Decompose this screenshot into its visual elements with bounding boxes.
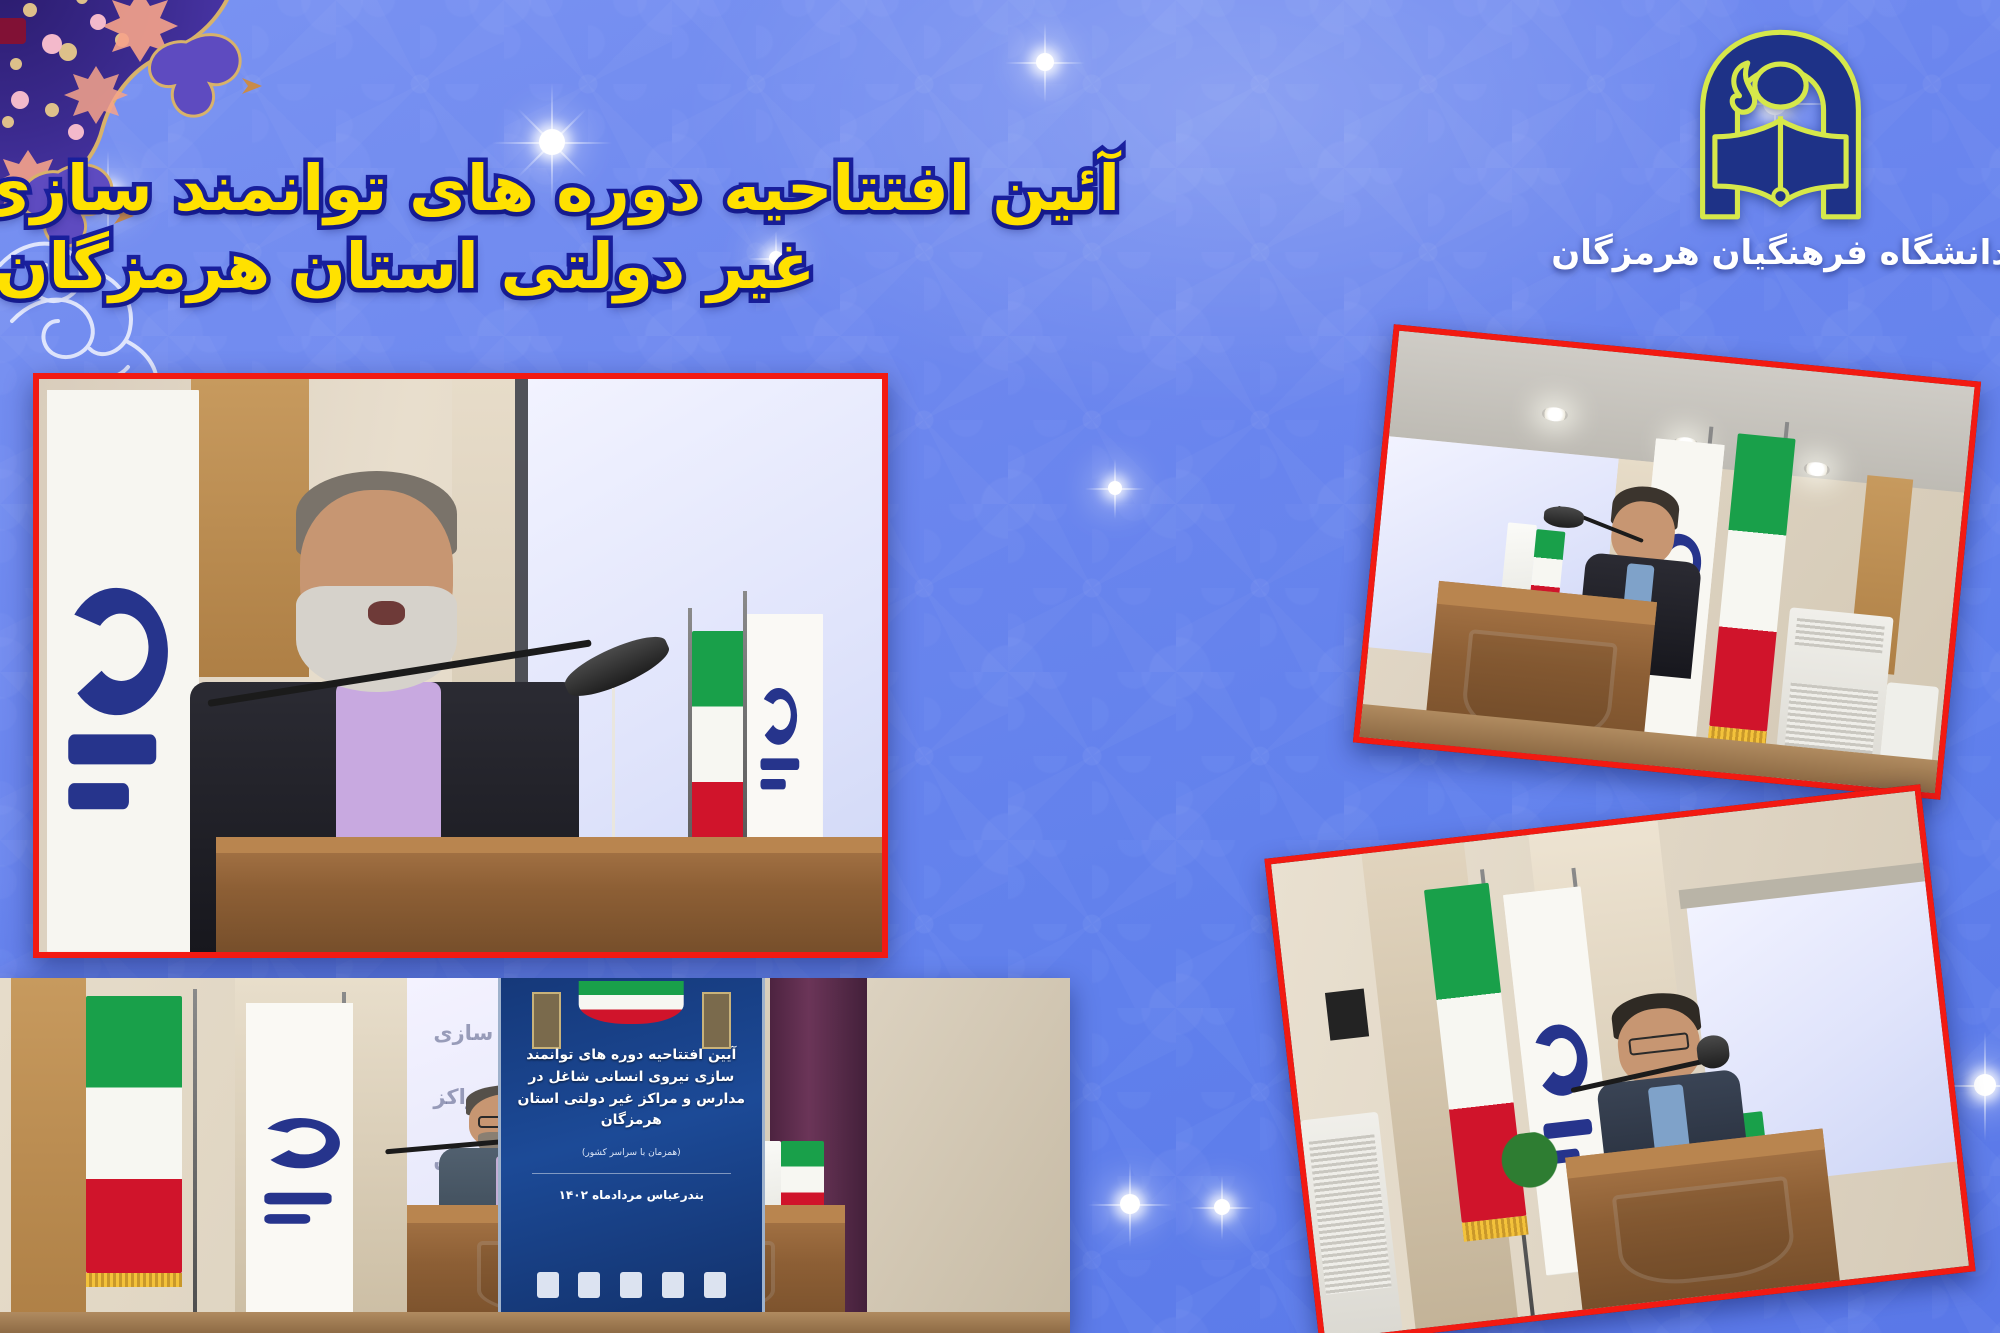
bottom-left-hall-photo[interactable]: سازی و مراکز ان: [0, 978, 1070, 1333]
event-poster: دانشگاه فرهنگیان هرمزگان آئین افتتاحیه د…: [0, 0, 2000, 1333]
university-flag: [246, 1003, 353, 1323]
iran-flag-drape-icon: [579, 981, 684, 1024]
university-flag: [47, 390, 199, 952]
university-name: دانشگاه فرهنگیان هرمزگان: [1551, 233, 2000, 273]
poster-title-line-2: غیر دولتی استان هرمزگان: [0, 228, 1120, 306]
main-speaker-photo[interactable]: [33, 373, 888, 958]
event-banner-subtitle: (همزمان با سراسر کشور): [527, 1148, 736, 1158]
sponsor-logo-icon: [620, 1272, 642, 1298]
event-banner-place-date: بندرعباس مردادماه ۱۴۰۲: [527, 1188, 736, 1202]
university-brand: دانشگاه فرهنگیان هرمزگان: [1590, 22, 1970, 273]
bottom-right-speaker-photo[interactable]: [1264, 784, 1975, 1333]
podium: [1565, 1128, 1840, 1309]
sponsor-logo-icon: [662, 1272, 684, 1298]
poster-title: آئین افتتاحیه دوره های توانمند سازی معلم…: [0, 150, 1120, 306]
poster-title-line-1: آئین افتتاحیه دوره های توانمند سازی معلم…: [0, 150, 1120, 228]
sponsor-logo-icon: [537, 1272, 559, 1298]
khomeini-portrait: [532, 992, 561, 1049]
event-banner: آیین افتتاحیه دوره های توانمند سازی نیرو…: [498, 978, 766, 1333]
event-banner-title: آیین افتتاحیه دوره های توانمند سازی نیرو…: [516, 1045, 746, 1132]
khamenei-portrait: [702, 992, 731, 1049]
sponsor-logo-icon: [704, 1272, 726, 1298]
event-banner-sponsor-logos: [527, 1272, 736, 1298]
iran-flag: [692, 631, 747, 860]
top-right-speaker-photo[interactable]: [1353, 324, 1981, 800]
iran-flag: [86, 996, 182, 1273]
sponsor-logo-icon: [578, 1272, 600, 1298]
projector-text-line-1: سازی: [433, 1021, 493, 1045]
university-flag: [747, 614, 823, 872]
podium: [216, 837, 882, 952]
university-shield-book-logo: [1678, 22, 1883, 227]
